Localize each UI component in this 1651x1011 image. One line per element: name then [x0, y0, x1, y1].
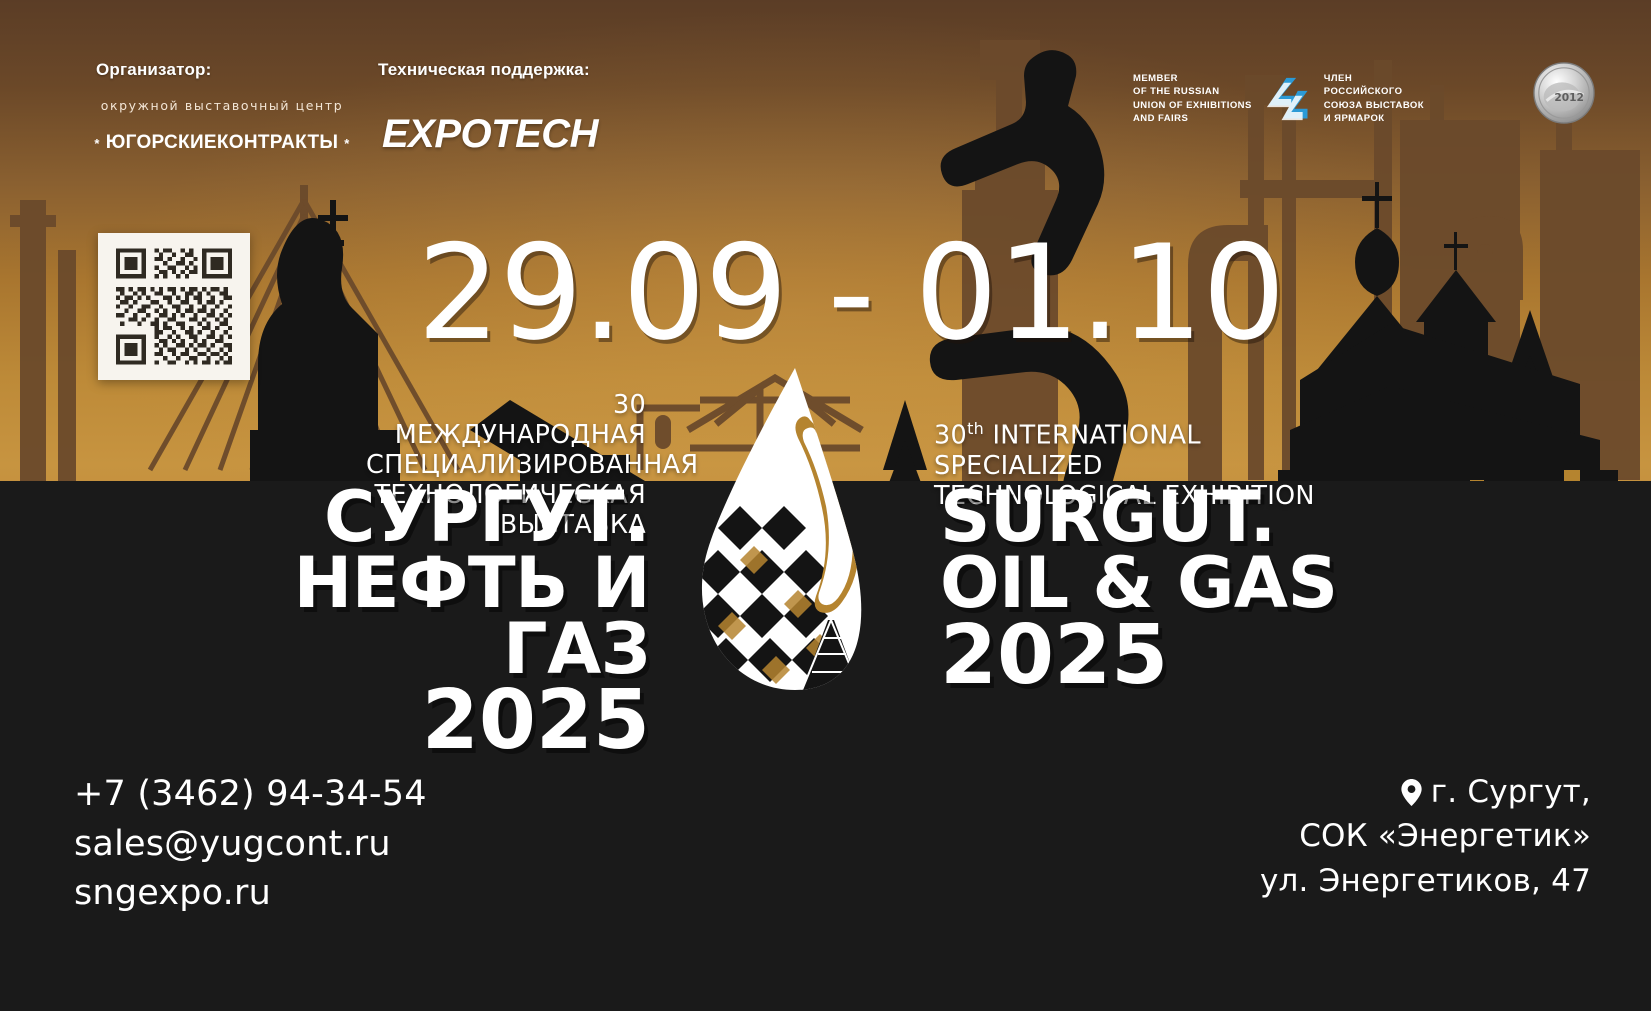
- address-line-city: г. Сургут,: [1260, 770, 1591, 814]
- title-english-year: 2025: [940, 617, 1410, 694]
- ruef-text-english: MEMBER OF THE RUSSIAN UNION OF EXHIBITIO…: [1133, 72, 1252, 126]
- title-russian: СУРГУТ. НЕФТЬ И ГАЗ 2025: [180, 485, 650, 759]
- silver-medal-icon: 2012: [1533, 62, 1595, 124]
- contact-phone[interactable]: +7 (3462) 94-34-54: [74, 770, 427, 820]
- title-english: SURGUT. OIL & GAS 2025: [940, 485, 1410, 694]
- star-right: *: [344, 136, 349, 151]
- organizer-label: Организатор:: [96, 60, 211, 80]
- title-russian-year: 2025: [180, 682, 650, 759]
- qr-code-icon: [109, 244, 239, 369]
- organizer-logo-word-right: КОНТРАКТЫ: [217, 132, 338, 154]
- title-english-line2: OIL & GAS: [940, 551, 1410, 617]
- title-russian-line1: СУРГУТ.: [180, 485, 650, 551]
- tech-support-label: Техническая поддержка:: [378, 60, 590, 80]
- subtitle-english-number: 30: [934, 421, 967, 451]
- address-city: г. Сургут,: [1431, 770, 1591, 814]
- ruef-text-russian: ЧЛЕН РОССИЙСКОГО СОЮЗА ВЫСТАВОК И ЯРМАРО…: [1324, 72, 1424, 126]
- organizer-logo-word-left: ЮГОРСКИЕ: [106, 132, 217, 154]
- organizer-logo-tagline: окружной выставочный центр: [92, 98, 352, 113]
- medal-year: 2012: [1554, 91, 1584, 104]
- address-street: ул. Энергетиков, 47: [1260, 859, 1591, 903]
- address-line-venue: СОК «Энергетик»: [1260, 814, 1591, 858]
- star-left: *: [94, 136, 99, 151]
- organizer-logo[interactable]: окружной выставочный центр * ЮГОРСКИЕ КО…: [92, 98, 352, 170]
- ruef-membership-badge: MEMBER OF THE RUSSIAN UNION OF EXHIBITIO…: [1133, 72, 1424, 126]
- ruef-logo-icon: [1262, 73, 1314, 125]
- title-russian-line2: НЕФТЬ И ГАЗ: [180, 551, 650, 683]
- location-pin-icon: [1401, 779, 1422, 806]
- event-dates: 29.09 - 01.10: [417, 227, 1285, 358]
- qr-code-card[interactable]: [98, 233, 250, 380]
- address-venue: СОК «Энергетик»: [1299, 814, 1591, 858]
- expotech-logo[interactable]: EXPOTECH: [382, 112, 598, 157]
- address-block: г. Сургут, СОК «Энергетик» ул. Энергетик…: [1260, 770, 1591, 903]
- title-english-line1: SURGUT.: [940, 485, 1410, 551]
- contact-website[interactable]: sngexpo.ru: [74, 869, 427, 919]
- subtitle-english-ordinal: th: [967, 419, 984, 438]
- exhibition-banner: Организатор: Техническая поддержка: окру…: [0, 0, 1651, 1011]
- contact-email[interactable]: sales@yugcont.ru: [74, 820, 427, 870]
- oil-drop-emblem-icon: [660, 360, 930, 735]
- contact-block: +7 (3462) 94-34-54 sales@yugcont.ru snge…: [74, 770, 427, 919]
- address-line-street: ул. Энергетиков, 47: [1260, 859, 1591, 903]
